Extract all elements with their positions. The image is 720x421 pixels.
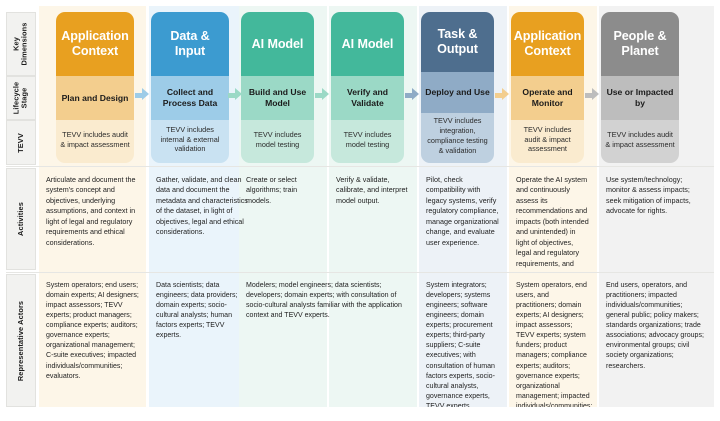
dimension-label-use-or-impacted-by: People & Planet xyxy=(601,12,679,76)
tevv-text-verify-and-validate: TEVV includes model testing xyxy=(331,120,404,163)
dimension-label-operate-and-monitor: Application Context xyxy=(511,12,584,76)
activities-cell-deploy-and-use: Pilot, check compatibility with legacy s… xyxy=(419,168,507,270)
column-card-build-and-use-model: AI ModelBuild and Use ModelTEVV includes… xyxy=(241,12,314,163)
actors-cell-plan-and-design: System operators; end users; domain expe… xyxy=(39,274,146,407)
lifecycle-framework-figure: KeyDimensionsLifecycleStageTEVVActivitie… xyxy=(0,0,720,421)
row-separator-1 xyxy=(6,166,714,167)
actors-cell-operate-and-monitor: System operators, end users, and practit… xyxy=(509,274,597,407)
activities-cell-verify-and-validate: Verify & validate, calibrate, and interp… xyxy=(329,168,417,270)
flow-arrow-operate-and-monitor-to-use-or-impacted-by xyxy=(585,88,600,101)
row-label-tevv: TEVV xyxy=(6,120,36,165)
stage-label-build-and-use-model: Build and Use Model xyxy=(241,76,314,120)
row-label-key-dimensions: KeyDimensions xyxy=(6,12,36,76)
arrow-head xyxy=(592,88,599,100)
row-label-text: Activities xyxy=(17,202,25,236)
dimension-label-build-and-use-model: AI Model xyxy=(241,12,314,76)
row-label-text: Representative Actors xyxy=(17,300,25,380)
tevv-text-collect-and-process-data: TEVV includes internal & external valida… xyxy=(151,120,229,163)
stage-label-verify-and-validate: Verify and Validate xyxy=(331,76,404,120)
flow-arrow-deploy-and-use-to-operate-and-monitor xyxy=(495,88,510,101)
stage-label-collect-and-process-data: Collect and Process Data xyxy=(151,76,229,120)
column-card-verify-and-validate: AI ModelVerify and ValidateTEVV includes… xyxy=(331,12,404,163)
activities-cell-build-and-use-model: Create or select algorithms; train model… xyxy=(239,168,327,270)
dimension-label-plan-and-design: Application Context xyxy=(56,12,134,76)
arrow-head xyxy=(502,88,509,100)
column-card-operate-and-monitor: Application ContextOperate and MonitorTE… xyxy=(511,12,584,163)
row-label-text: KeyDimensions xyxy=(13,23,30,66)
flow-arrow-collect-and-process-data-to-build-and-use-model xyxy=(228,88,243,101)
activities-cell-use-or-impacted-by: Use system/technology; monitor & assess … xyxy=(599,168,714,270)
arrow-head xyxy=(142,88,149,100)
stage-label-operate-and-monitor: Operate and Monitor xyxy=(511,76,584,120)
tevv-text-deploy-and-use: TEVV includes integration, compliance te… xyxy=(421,113,494,163)
actors-cell-deploy-and-use: System integrators; developers; systems … xyxy=(419,274,507,407)
row-label-activities: Activities xyxy=(6,168,36,270)
row-label-text: LifecycleStage xyxy=(13,82,30,115)
arrow-head xyxy=(412,88,419,100)
column-card-plan-and-design: Application ContextPlan and DesignTEVV i… xyxy=(56,12,134,163)
flow-arrow-plan-and-design-to-collect-and-process-data xyxy=(135,88,150,101)
actors-cell-ai-model-merged: Modelers; model engineers; data scientis… xyxy=(239,274,417,407)
actors-cell-use-or-impacted-by: End users, operators, and practitioners;… xyxy=(599,274,714,407)
column-card-deploy-and-use: Task & OutputDeploy and UseTEVV includes… xyxy=(421,12,494,163)
stage-label-plan-and-design: Plan and Design xyxy=(56,76,134,120)
row-label-text: TEVV xyxy=(17,133,25,153)
stage-label-use-or-impacted-by: Use or Impacted by xyxy=(601,76,679,120)
flow-arrow-build-and-use-model-to-verify-and-validate xyxy=(315,88,330,101)
arrow-head xyxy=(235,88,242,100)
tevv-text-use-or-impacted-by: TEVV includes audit & impact assessment xyxy=(601,120,679,163)
flow-arrow-verify-and-validate-to-deploy-and-use xyxy=(405,88,420,101)
column-card-collect-and-process-data: Data & InputCollect and Process DataTEVV… xyxy=(151,12,229,163)
row-label-representative-actors: Representative Actors xyxy=(6,274,36,407)
dimension-label-verify-and-validate: AI Model xyxy=(331,12,404,76)
activities-cell-plan-and-design: Articulate and document the system's con… xyxy=(39,168,146,270)
dimension-label-deploy-and-use: Task & Output xyxy=(421,12,494,72)
tevv-text-operate-and-monitor: TEVV includes audit & impact assessment xyxy=(511,120,584,163)
stage-label-deploy-and-use: Deploy and Use xyxy=(421,72,494,113)
tevv-text-plan-and-design: TEVV includes audit & impact assessment xyxy=(56,120,134,163)
dimension-label-collect-and-process-data: Data & Input xyxy=(151,12,229,76)
arrow-head xyxy=(322,88,329,100)
tevv-text-build-and-use-model: TEVV includes model testing xyxy=(241,120,314,163)
column-card-use-or-impacted-by: People & PlanetUse or Impacted byTEVV in… xyxy=(601,12,679,163)
activities-cell-operate-and-monitor: Operate the AI system and continuously a… xyxy=(509,168,597,270)
row-label-lifecycle-stage: LifecycleStage xyxy=(6,76,36,120)
row-separator-2 xyxy=(6,272,714,273)
